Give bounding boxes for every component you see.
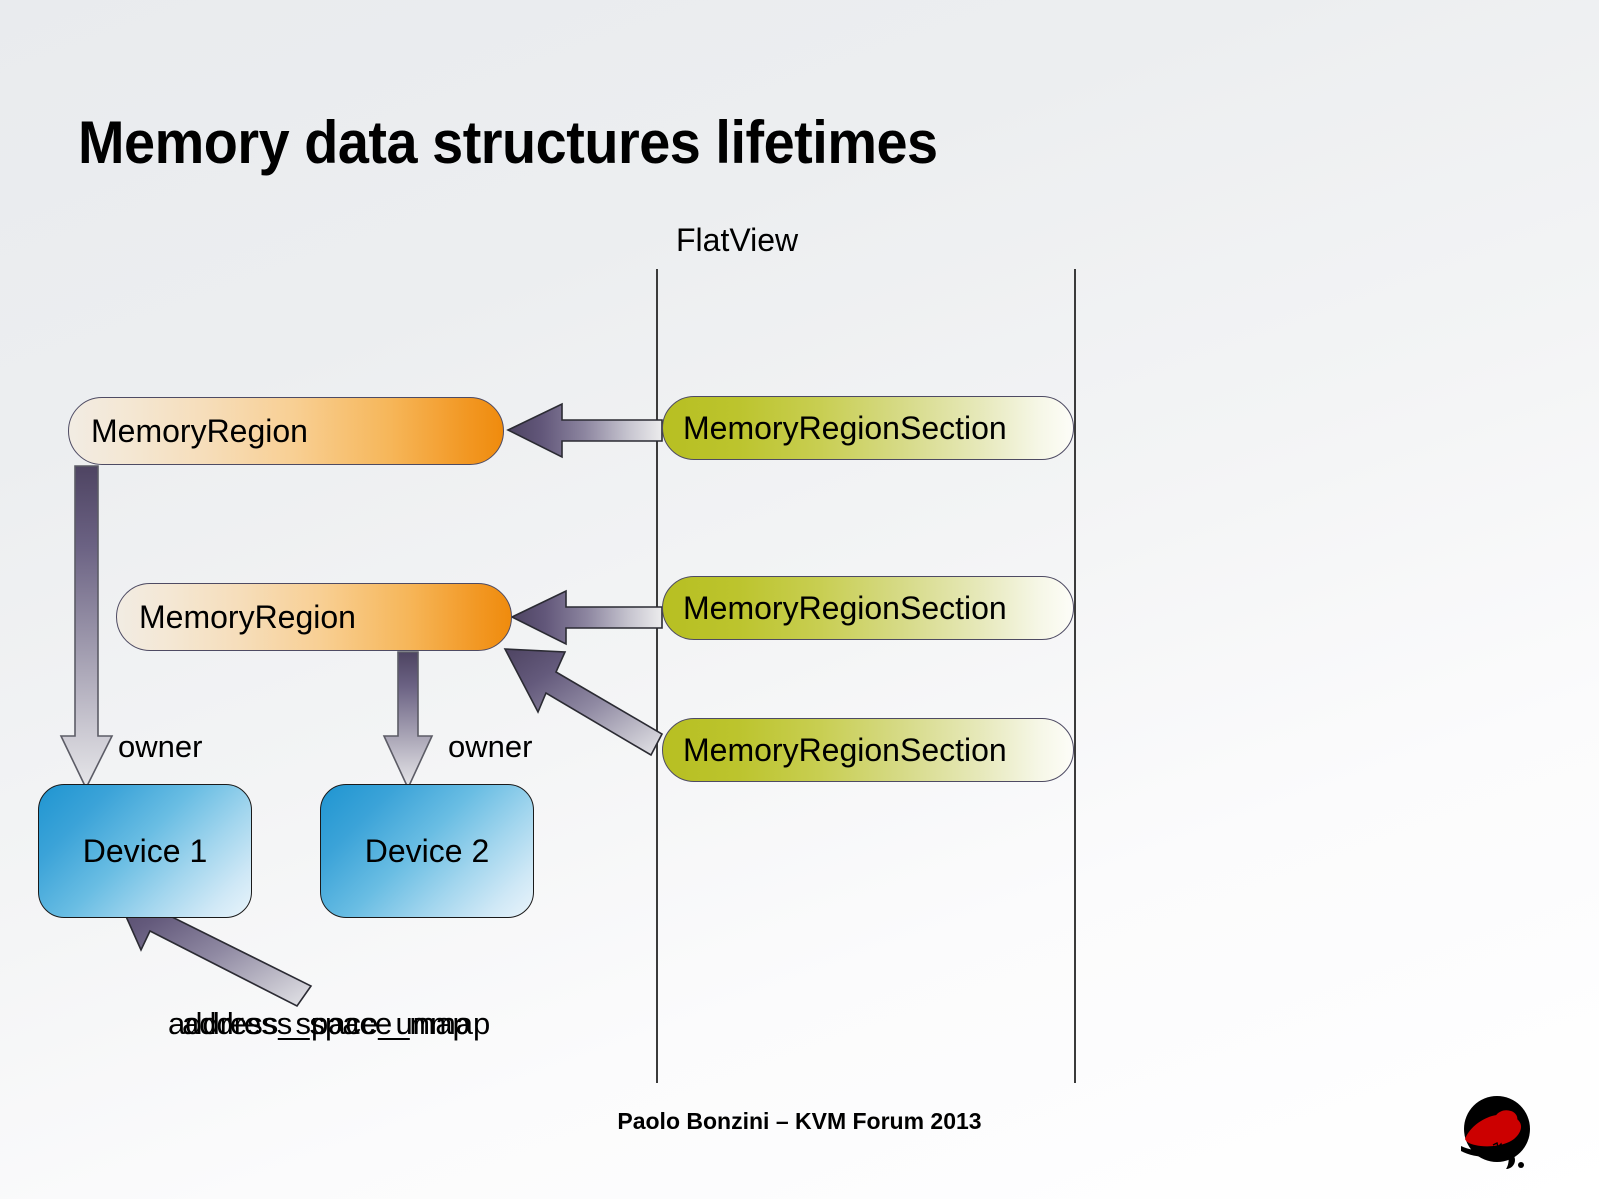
slide-canvas: Memory data structures lifetimes FlatVie… [0,0,1599,1199]
memory-region-section-label: MemoryRegionSection [683,732,1007,769]
red-hat-shadowman-logo [1443,1089,1551,1171]
flatview-rail-left [656,269,658,1083]
memory-region-section-node-3[interactable]: MemoryRegionSection [662,718,1074,782]
slide-footer: Paolo Bonzini – KVM Forum 2013 [0,1108,1599,1135]
memory-region-section-label: MemoryRegionSection [683,410,1007,447]
device-node-1[interactable]: Device 1 [38,784,252,918]
memory-region-node-1[interactable]: MemoryRegion [68,397,504,465]
flatview-rail-right [1074,269,1076,1083]
caption-stack: address_space_map address_space_unmap [150,1006,610,1050]
memory-region-section-node-1[interactable]: MemoryRegionSection [662,396,1074,460]
caption-address-space-unmap: address_space_unmap [168,1006,490,1042]
owner-edge-label-1: owner [118,729,202,765]
device-node-2[interactable]: Device 2 [320,784,534,918]
memory-region-label: MemoryRegion [91,413,308,450]
owner-edge-label-2: owner [448,729,532,765]
arrow-section2-to-region2 [512,591,662,644]
arrow-section1-to-region1 [508,404,662,457]
arrow-region1-to-device1 [61,466,112,788]
device-label: Device 1 [83,833,208,870]
memory-region-node-2[interactable]: MemoryRegion [116,583,512,651]
memory-region-label: MemoryRegion [139,599,356,636]
flatview-label: FlatView [676,222,798,259]
page-title: Memory data structures lifetimes [78,108,938,177]
arrow-region2-to-device2 [384,652,432,788]
memory-region-section-label: MemoryRegionSection [683,590,1007,627]
device-label: Device 2 [365,833,490,870]
memory-region-section-node-2[interactable]: MemoryRegionSection [662,576,1074,640]
